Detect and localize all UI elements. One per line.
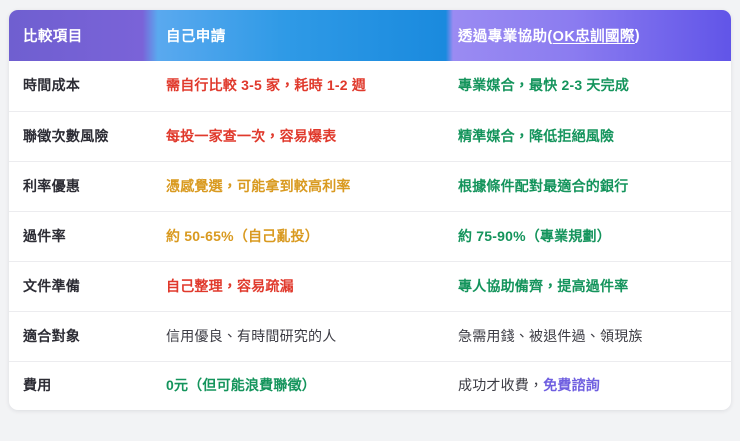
row-self-apply-value: 約 50-65%（自己亂投） — [147, 227, 450, 247]
column-header-professional-help: 透過專業協助(OK忠訓國際) — [450, 10, 731, 61]
row-professional-value: 專業媒合，最快 2-3 天完成 — [450, 76, 731, 96]
row-self-apply-value: 每投一家查一次，容易爆表 — [147, 127, 450, 147]
row-label: 費用 — [9, 376, 147, 396]
table-header-row: 比較項目 自己申請 透過專業協助(OK忠訓國際) — [9, 10, 731, 61]
column-header-professional-help-suffix: ) — [635, 28, 640, 44]
row-professional-value: 精準媒合，降低拒絕風險 — [450, 127, 731, 147]
table-row: 聯徵次數風險 每投一家查一次，容易爆表 精準媒合，降低拒絕風險 — [9, 111, 731, 161]
table-row: 適合對象 信用優良、有時間研究的人 急需用錢、被退件過、領現族 — [9, 311, 731, 361]
column-header-self-apply-label: 自己申請 — [166, 25, 226, 46]
page-background: 比較項目 自己申請 透過專業協助(OK忠訓國際) 時間成本 需自行比較 3-5 … — [0, 0, 740, 441]
row-label: 適合對象 — [9, 327, 147, 347]
row-professional-value: 約 75-90%（專業規劃） — [450, 227, 731, 247]
row-professional-value: 根據條件配對最適合的銀行 — [450, 177, 731, 197]
column-header-self-apply: 自己申請 — [147, 10, 450, 61]
row-label: 文件準備 — [9, 277, 147, 297]
row-self-apply-value: 自己整理，容易疏漏 — [147, 277, 450, 297]
table-row: 文件準備 自己整理，容易疏漏 專人協助備齊，提高過件率 — [9, 261, 731, 311]
table-row: 過件率 約 50-65%（自己亂投） 約 75-90%（專業規劃） — [9, 211, 731, 261]
row-professional-value: 專人協助備齊，提高過件率 — [450, 277, 731, 297]
row-self-apply-value: 需自行比較 3-5 家，耗時 1-2 週 — [147, 76, 450, 96]
table-row: 費用 0元（但可能浪費聯徵） 成功才收費，免費諮詢 — [9, 361, 731, 410]
row-professional-value-text: 成功才收費， — [458, 376, 543, 396]
column-header-compare-item: 比較項目 — [9, 10, 147, 61]
row-professional-value: 急需用錢、被退件過、領現族 — [450, 327, 731, 347]
row-label: 時間成本 — [9, 76, 147, 96]
column-header-brand-name: OK忠訓國際 — [553, 25, 635, 46]
table-row: 時間成本 需自行比較 3-5 家，耗時 1-2 週 專業媒合，最快 2-3 天完… — [9, 61, 731, 111]
row-label: 過件率 — [9, 227, 147, 247]
row-professional-value: 成功才收費，免費諮詢 — [450, 376, 731, 396]
row-label: 利率優惠 — [9, 177, 147, 197]
table-row: 利率優惠 憑感覺選，可能拿到較高利率 根據條件配對最適合的銀行 — [9, 161, 731, 211]
column-header-compare-item-label: 比較項目 — [23, 25, 83, 46]
row-label: 聯徵次數風險 — [9, 127, 147, 147]
row-self-apply-value: 信用優良、有時間研究的人 — [147, 327, 450, 347]
comparison-table-card: 比較項目 自己申請 透過專業協助(OK忠訓國際) 時間成本 需自行比較 3-5 … — [9, 10, 731, 410]
row-self-apply-value: 0元（但可能浪費聯徵） — [147, 376, 450, 396]
row-self-apply-value: 憑感覺選，可能拿到較高利率 — [147, 177, 450, 197]
free-consultation-link[interactable]: 免費諮詢 — [543, 376, 600, 396]
column-header-professional-help-prefix: 透過專業協助( — [458, 25, 553, 46]
